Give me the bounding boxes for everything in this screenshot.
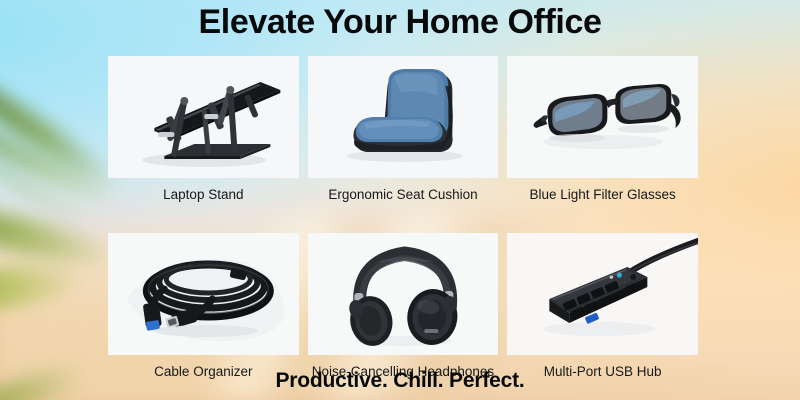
palm-frond-icon — [0, 112, 120, 211]
product-image-cable-organizer — [108, 233, 299, 355]
product-image-seat-cushion — [308, 56, 499, 178]
product-image-laptop-stand — [108, 56, 299, 178]
headphones-icon — [308, 233, 499, 355]
product-card-laptop-stand[interactable]: Laptop Stand — [108, 56, 299, 203]
product-card-glasses[interactable]: Blue Light Filter Glasses — [507, 56, 698, 203]
product-image-headphones — [308, 233, 499, 355]
usb-cable-icon — [108, 233, 299, 355]
product-label: Ergonomic Seat Cushion — [308, 187, 499, 203]
seat-cushion-icon — [308, 56, 499, 178]
product-card-usb-hub[interactable]: Multi-Port USB Hub — [507, 233, 698, 380]
product-card-cable-organizer[interactable]: Cable Organizer — [108, 233, 299, 380]
product-image-usb-hub — [507, 233, 698, 355]
page-title: Elevate Your Home Office — [0, 2, 800, 42]
laptop-stand-icon — [108, 56, 299, 178]
poster-canvas: Elevate Your Home Office — [0, 0, 800, 400]
usb-hub-icon — [507, 233, 698, 355]
product-label: Laptop Stand — [108, 187, 299, 203]
product-card-headphones[interactable]: Noise-Cancelling Headphones — [308, 233, 499, 380]
tagline: Productive. Chill. Perfect. — [0, 368, 800, 394]
palm-frond-icon — [0, 194, 121, 275]
palm-frond-icon — [0, 259, 87, 317]
product-image-glasses — [507, 56, 698, 178]
product-grid: Laptop Stand — [108, 56, 698, 380]
glasses-icon — [507, 56, 698, 178]
product-label: Blue Light Filter Glasses — [507, 187, 698, 203]
palm-frond-icon — [0, 149, 103, 236]
product-card-seat-cushion[interactable]: Ergonomic Seat Cushion — [308, 56, 499, 203]
